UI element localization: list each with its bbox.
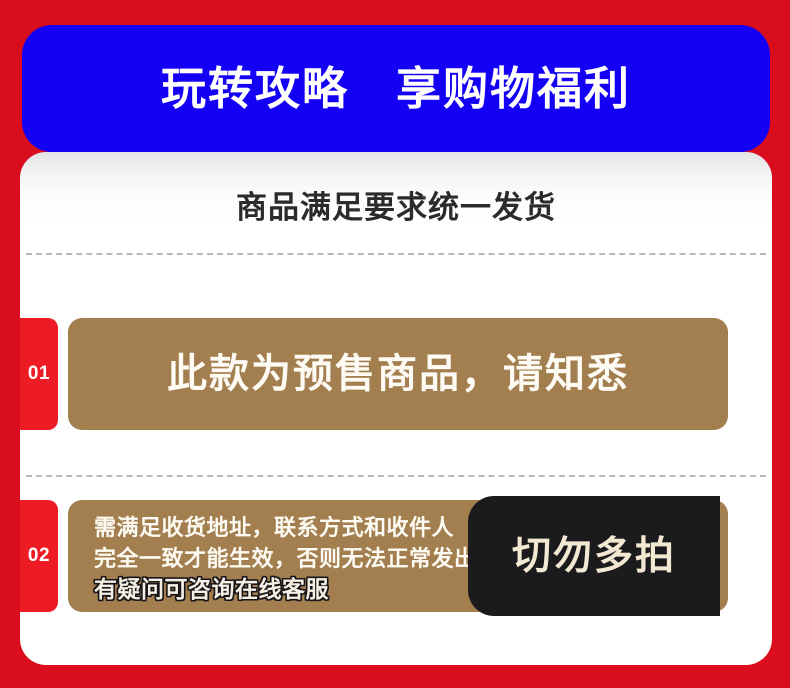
rule-badge-01: 01 (20, 318, 58, 430)
callout-text: 切勿多拍 (512, 537, 676, 576)
content-card: 商品满足要求统一发货 01 此款为预售商品，请知悉 02 需满足收货地址，联系方… (20, 152, 772, 665)
rule-row-02: 02 需满足收货地址，联系方式和收件人 完全一致才能生效，否则无法正常发出 有疑… (20, 500, 772, 612)
promo-poster: 玩转攻略 享购物福利 商品满足要求统一发货 01 此款为预售商品，请知悉 02 … (0, 0, 790, 688)
banner-title: 玩转攻略 享购物福利 (161, 66, 631, 111)
rule-badge-02: 02 (20, 500, 58, 612)
rule-box-01: 此款为预售商品，请知悉 (68, 318, 728, 430)
rule-row-01: 01 此款为预售商品，请知悉 (20, 318, 772, 430)
rule-text-01: 此款为预售商品，请知悉 (167, 354, 629, 394)
divider-middle (26, 475, 766, 477)
divider-top (26, 253, 766, 255)
header-banner: 玩转攻略 享购物福利 (22, 25, 770, 152)
card-title: 商品满足要求统一发货 (20, 192, 772, 223)
rule-text-02-line3: 有疑问可咨询在线客服 (94, 574, 728, 605)
